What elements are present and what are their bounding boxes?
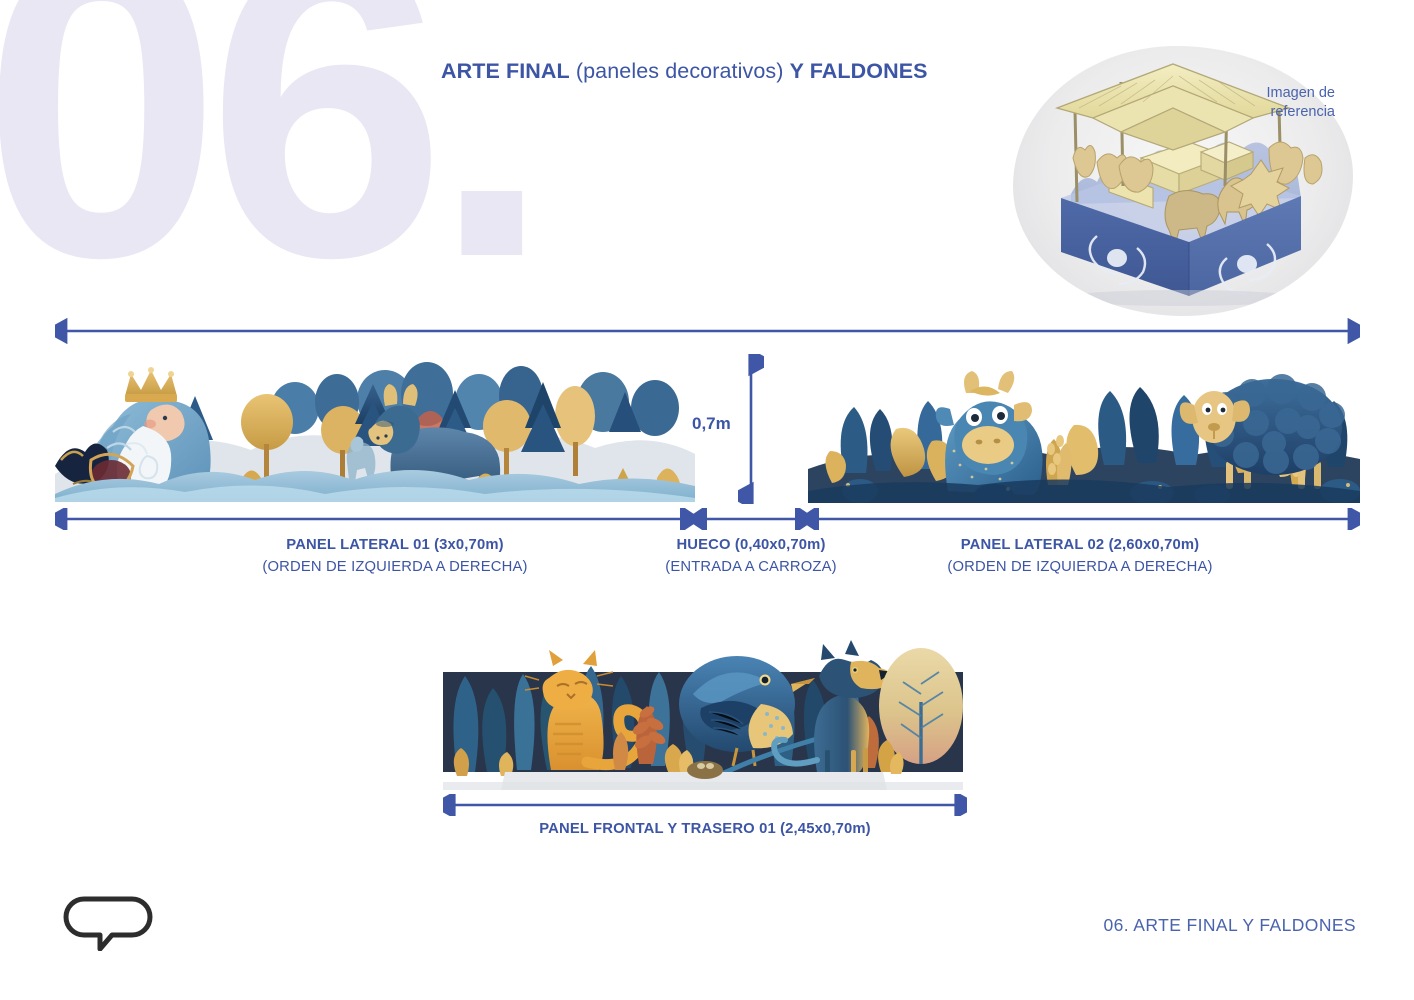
sketch-ground-shadow bbox=[1061, 290, 1301, 306]
page-title-part2: (paneles decorativos) bbox=[570, 59, 790, 83]
brand-logo bbox=[62, 893, 154, 951]
reference-image-container: Imagen de referencia bbox=[1013, 46, 1353, 316]
panel-height-dimension-arrow bbox=[738, 354, 764, 504]
pf-nest bbox=[687, 761, 723, 779]
panel-lateral-01-illustration bbox=[55, 356, 695, 502]
pf-ground-front bbox=[443, 782, 963, 790]
panel-lateral-02-caption-line1: PANEL LATERAL 02 (2,60x0,70m) bbox=[860, 534, 1300, 556]
panel-02-width-dimension bbox=[798, 508, 1360, 530]
total-width-dimension-arrow bbox=[55, 318, 1360, 344]
page-title-part3: Y FALDONES bbox=[790, 59, 928, 83]
panel-lateral-02-caption-line2: (ORDEN DE IZQUIERDA A DERECHA) bbox=[860, 556, 1300, 578]
panel-lateral-01-caption-line2: (ORDEN DE IZQUIERDA A DERECHA) bbox=[150, 556, 640, 578]
hueco-caption: HUECO (0,40x0,70m) (ENTRADA A CARROZA) bbox=[620, 534, 882, 578]
page-title-part1: ARTE FINAL bbox=[441, 59, 570, 83]
panel-frontal-width-dimension bbox=[443, 794, 967, 816]
page-number-watermark: 06. bbox=[0, 0, 538, 322]
hueco-width-dimension bbox=[686, 508, 816, 530]
hueco-caption-line1: HUECO (0,40x0,70m) bbox=[620, 534, 882, 556]
panel-frontal-trasero-caption: PANEL FRONTAL Y TRASERO 01 (2,45x0,70m) bbox=[443, 818, 967, 840]
hueco-caption-line2: (ENTRADA A CARROZA) bbox=[620, 556, 882, 578]
panel-lateral-02-illustration bbox=[808, 365, 1360, 503]
panel-lateral-01-caption-line1: PANEL LATERAL 01 (3x0,70m) bbox=[150, 534, 640, 556]
footer-section-label: 06. ARTE FINAL Y FALDONES bbox=[1103, 915, 1356, 936]
page-title: ARTE FINAL (paneles decorativos) Y FALDO… bbox=[441, 60, 928, 84]
speech-bubble-logo-icon bbox=[62, 893, 154, 951]
p2-cow-figure bbox=[936, 371, 1043, 495]
panel-lateral-02-caption: PANEL LATERAL 02 (2,60x0,70m) (ORDEN DE … bbox=[860, 534, 1300, 578]
reference-image-label: Imagen de referencia bbox=[1266, 84, 1335, 122]
panel-frontal-trasero-caption-line1: PANEL FRONTAL Y TRASERO 01 (2,45x0,70m) bbox=[443, 818, 967, 840]
panel-lateral-01-caption: PANEL LATERAL 01 (3x0,70m) (ORDEN DE IZQ… bbox=[150, 534, 640, 578]
panel-01-width-dimension bbox=[55, 508, 705, 530]
panel-height-label: 0,7m bbox=[692, 414, 731, 434]
panel-frontal-trasero-illustration bbox=[443, 632, 963, 790]
